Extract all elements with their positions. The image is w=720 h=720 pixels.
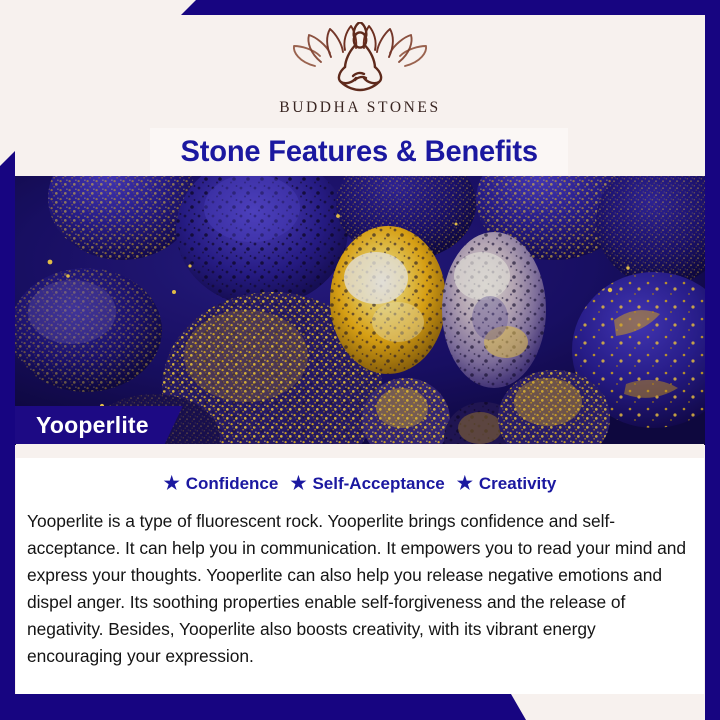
keyword-label: Confidence [186, 474, 279, 494]
stone-name-banner: Yooperlite [14, 406, 183, 444]
keyword-item-creativity: ★ Creativity [445, 474, 557, 494]
poster-root: BUDDHA STONES [0, 0, 720, 720]
brand-logo: BUDDHA STONES [0, 22, 720, 117]
page-title: Stone Features & Benefits [150, 128, 568, 175]
star-icon: ★ [164, 474, 180, 492]
card-top-strip [16, 444, 704, 458]
brand-name: BUDDHA STONES [279, 99, 440, 117]
keyword-label: Creativity [479, 474, 556, 494]
star-icon: ★ [290, 474, 306, 492]
lotus-meditation-icon [285, 22, 435, 94]
content-card: ★ Confidence ★ Self-Acceptance ★ Creativ… [16, 444, 704, 694]
star-icon: ★ [457, 474, 473, 492]
frame-right-bar [705, 0, 720, 720]
keyword-label: Self-Acceptance [312, 474, 444, 494]
keyword-item-self-acceptance: ★ Self-Acceptance [278, 474, 444, 494]
keyword-list: ★ Confidence ★ Self-Acceptance ★ Creativ… [16, 474, 704, 494]
frame-bottom-bar [0, 694, 720, 720]
page-title-text: Stone Features & Benefits [180, 135, 537, 169]
keyword-item-confidence: ★ Confidence [164, 474, 279, 494]
stone-name-label: Yooperlite [36, 412, 149, 439]
stone-photo [14, 170, 706, 445]
stone-description: Yooperlite is a type of fluorescent rock… [27, 508, 693, 670]
